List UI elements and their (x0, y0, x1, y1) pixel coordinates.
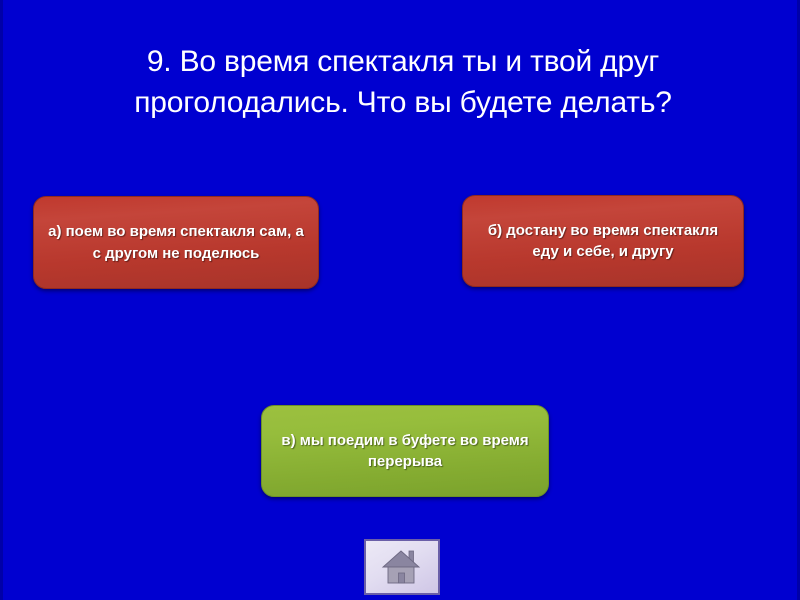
answer-option-b-label: б) достану во время спектакля еду и себе… (477, 220, 729, 263)
answer-option-b[interactable]: б) достану во время спектакля еду и себе… (462, 195, 744, 287)
quiz-slide: 9. Во время спектакля ты и твой друг про… (0, 0, 800, 600)
home-button[interactable] (364, 539, 440, 595)
answer-option-a[interactable]: а) поем во время спектакля сам, а с друг… (33, 196, 319, 289)
answer-option-a-label: а) поем во время спектакля сам, а с друг… (48, 221, 304, 264)
answer-option-c-label: в) мы поедим в буфете во время перерыва (276, 430, 534, 473)
home-icon (380, 548, 424, 586)
answer-option-c[interactable]: в) мы поедим в буфете во время перерыва (261, 405, 549, 497)
page-title: 9. Во время спектакля ты и твой друг про… (43, 42, 763, 124)
